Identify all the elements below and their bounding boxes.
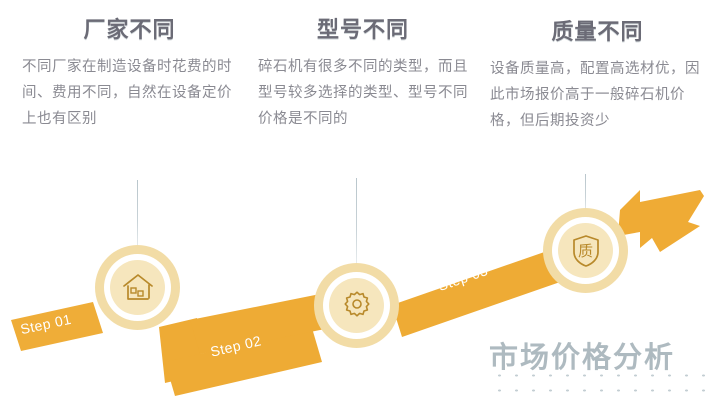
factory-icon [121,272,155,304]
step-badge-3[interactable]: 质 [543,208,628,293]
badge-3-glyph: 质 [569,233,603,269]
step-badge-1[interactable] [95,245,180,330]
step-03-ribbon [392,249,563,337]
badge-2-gap [323,272,390,339]
gear-icon [340,289,374,323]
step-badge-2[interactable] [314,263,399,348]
badge-2-core [329,278,384,333]
badge-3-gap: 质 [552,217,619,284]
badge-1-gap [104,254,171,321]
badge-1-core [110,260,165,315]
infographic-canvas: 厂家不同 不同厂家在制造设备时花费的时间、费用不同，自然在设备定价上也有区别 型… [0,0,720,400]
progress-arrow-icon [618,190,704,252]
badge-3-core: 质 [558,223,613,278]
dot-grid-decoration [489,366,715,400]
